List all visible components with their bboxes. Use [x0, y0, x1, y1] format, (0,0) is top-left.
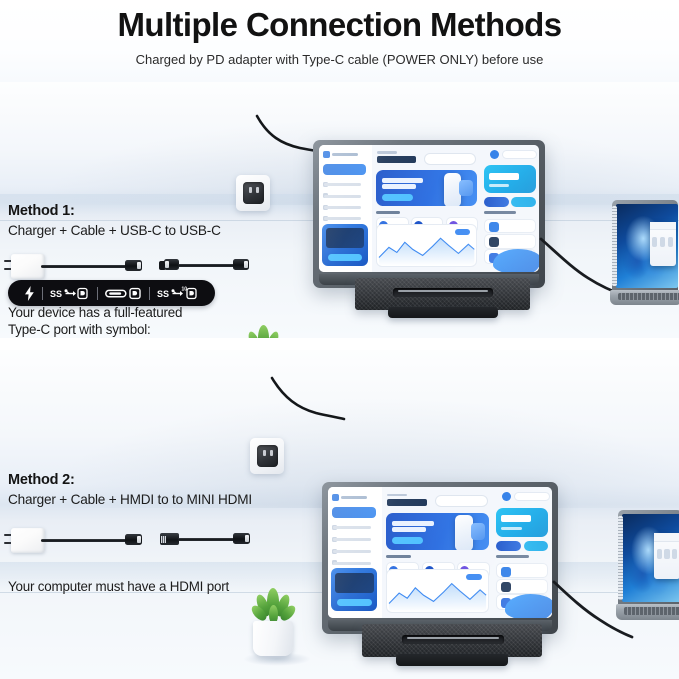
- product-infographic: Multiple Connection Methods Charged by P…: [0, 0, 679, 679]
- dialog-titlebar: [650, 222, 676, 230]
- laptop-keyboard: [618, 293, 679, 300]
- windows-dialog: [650, 222, 676, 266]
- dialog-icon: [664, 549, 669, 559]
- method-2-section: Method 2: Charger + Cable + HMDI to to M…: [0, 350, 679, 679]
- windows-dialog: [654, 533, 679, 579]
- dialog-icon: [652, 237, 657, 247]
- laptop-keyboard: [624, 607, 679, 615]
- section-divider: [0, 338, 679, 350]
- dialog-icon: [657, 549, 662, 559]
- laptop-screen-1: [616, 204, 678, 288]
- page-title: Multiple Connection Methods: [0, 6, 679, 44]
- monitor-to-laptop-cable-2: [0, 350, 679, 679]
- monitor-to-laptop-cable-1: [0, 82, 679, 338]
- dialog-icon: [660, 237, 665, 247]
- laptop-screen-2: [622, 514, 679, 602]
- dialog-icon: [672, 549, 677, 559]
- dialog-titlebar: [654, 533, 679, 541]
- header: Multiple Connection Methods Charged by P…: [0, 0, 679, 82]
- method-1-section: Method 1: Charger + Cable + USB-C to USB…: [0, 82, 679, 338]
- laptop-bezel-edge: [618, 516, 623, 600]
- laptop-bezel-edge: [612, 206, 617, 286]
- dialog-icon: [668, 237, 673, 247]
- windows-laptop-2: [618, 510, 679, 630]
- windows-laptop-1: [612, 200, 679, 315]
- page-subtitle: Charged by PD adapter with Type-C cable …: [0, 52, 679, 67]
